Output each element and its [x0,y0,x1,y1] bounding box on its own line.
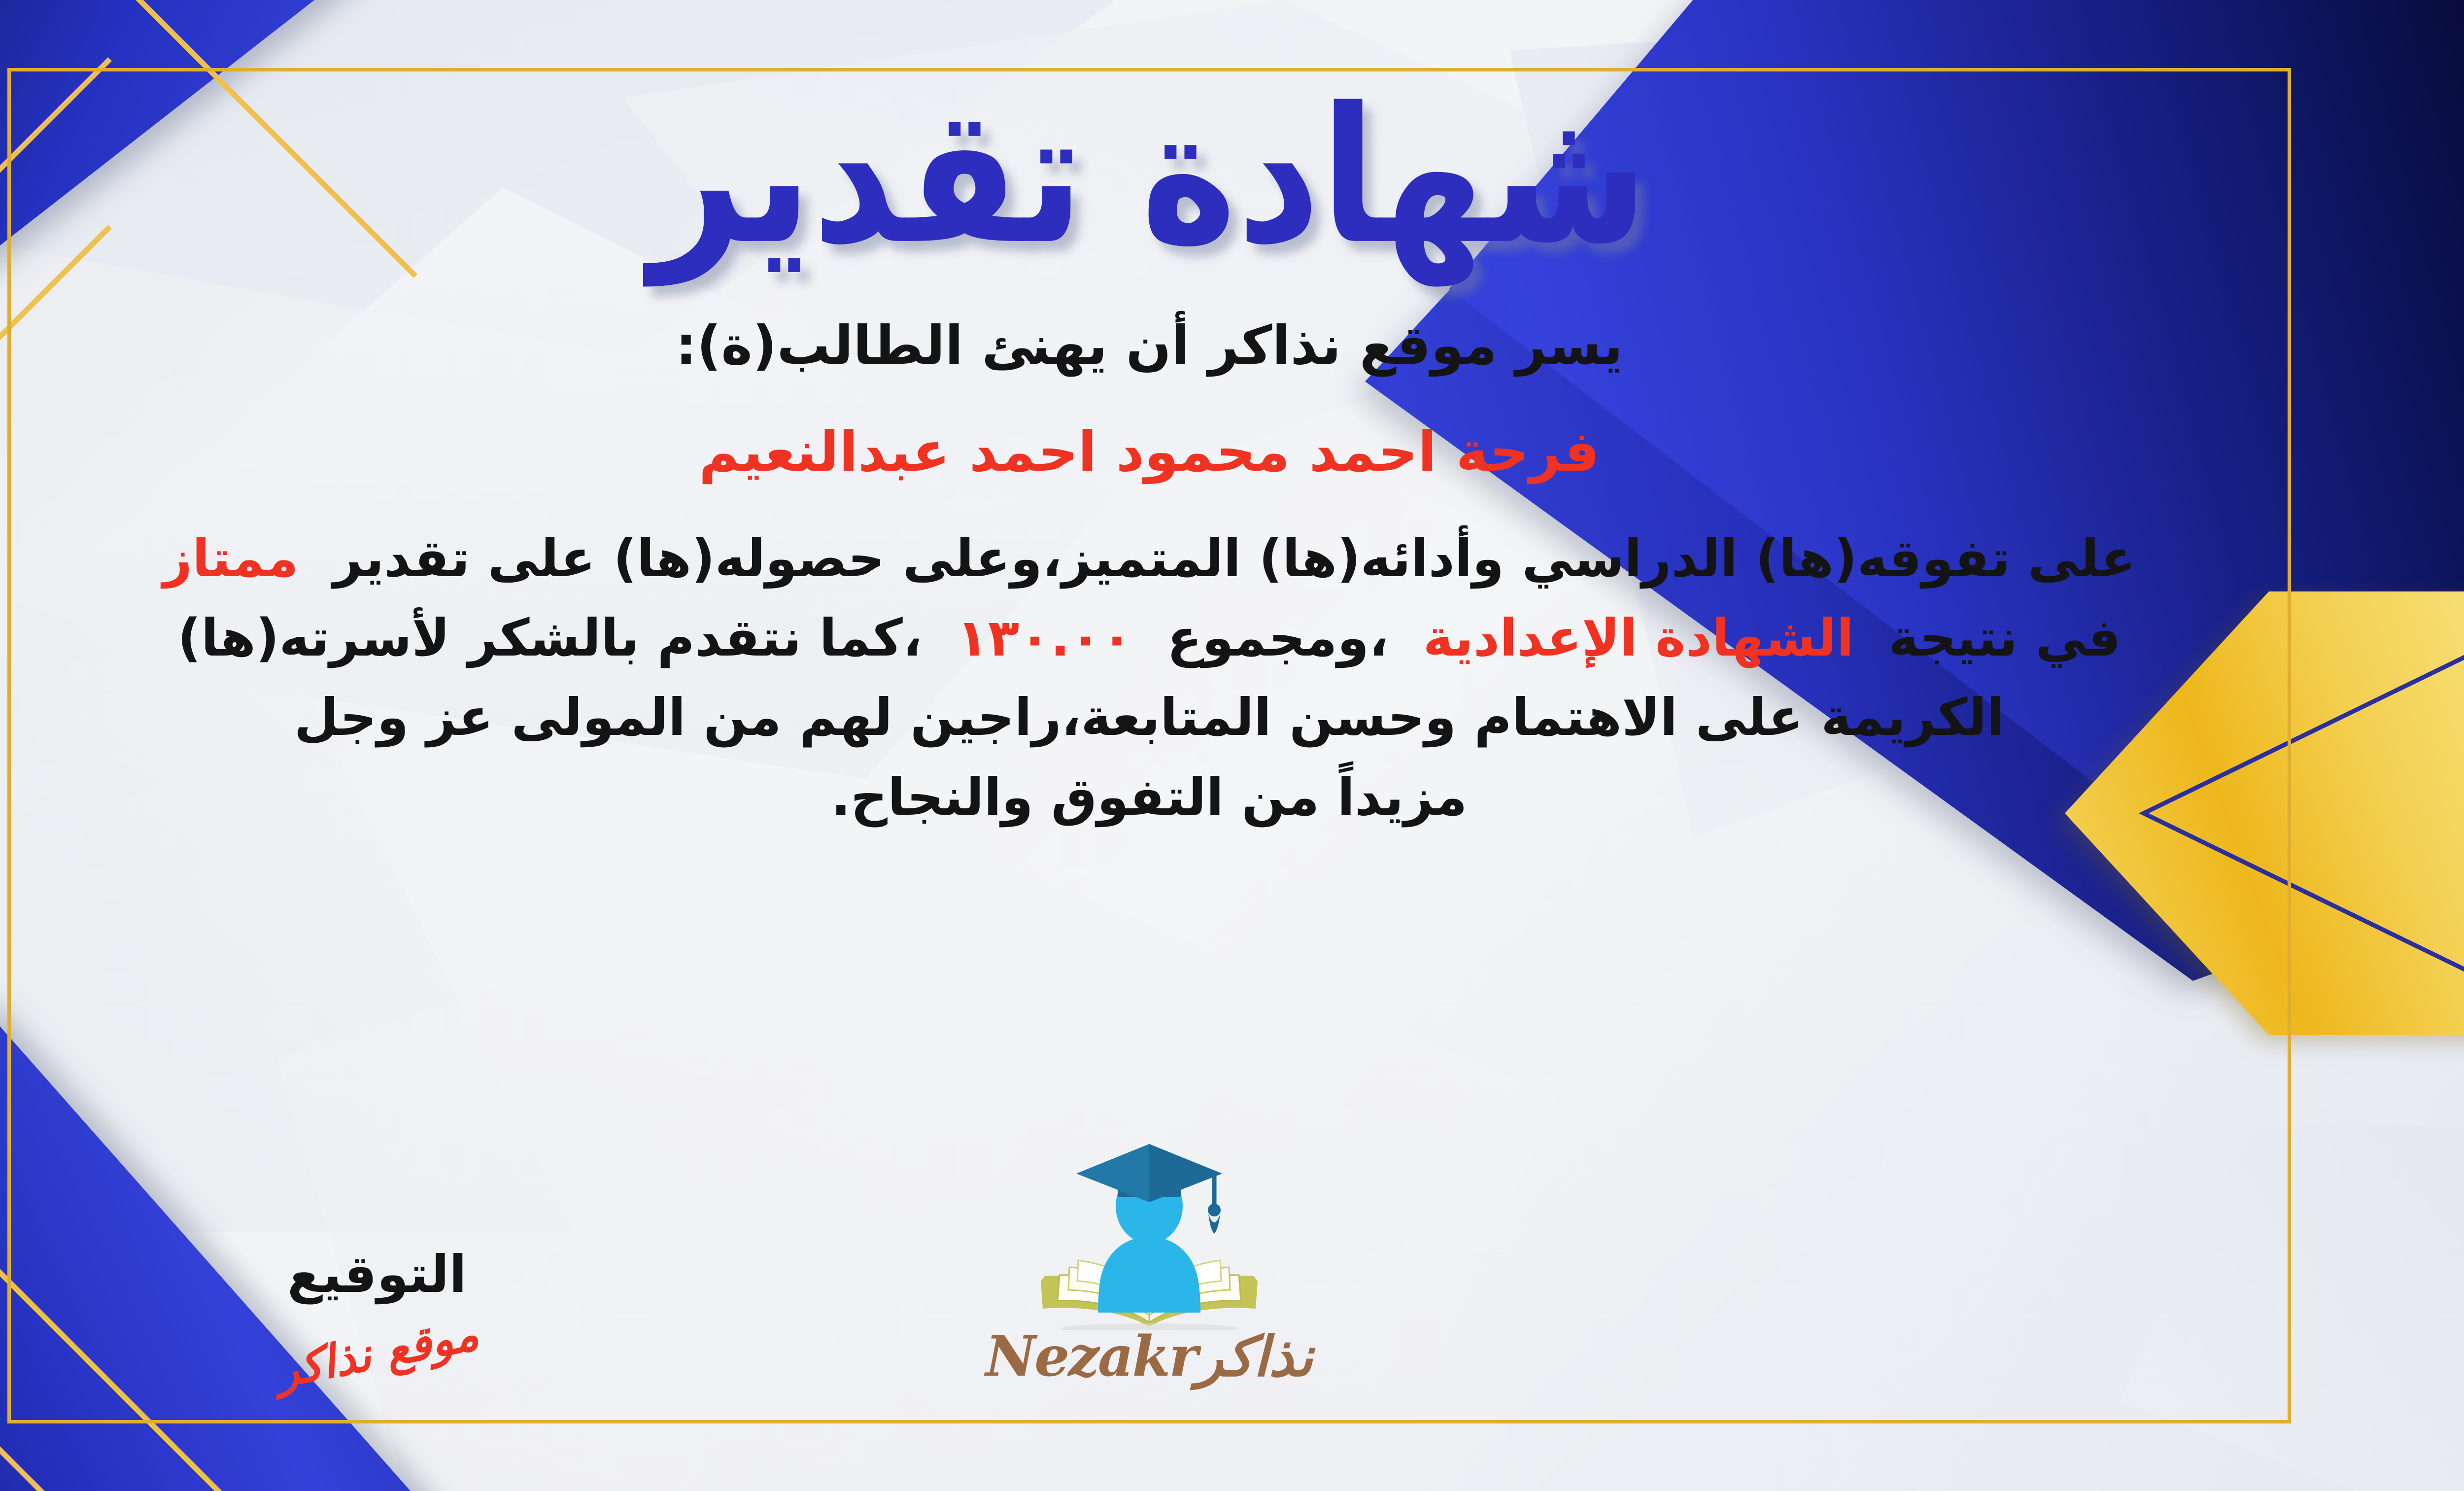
signature-label: التوقيع [155,1244,599,1304]
logo-wordmark: Nezakrنذاكر [962,1324,1336,1389]
brand-logo: Nezakrنذاكر [962,1133,1336,1389]
achievement-paragraph: على تفوقه(ها) الدراسي وأدائه(ها) المتميز… [7,519,2291,837]
grade-value: ممتاز [163,528,299,589]
exam-name: الشهادة الإعدادية [1423,608,1854,668]
total-label: ،ومجموع [1167,608,1388,668]
greeting-line: يسر موقع نذاكر أن يهنئ الطالب(ة): [7,305,2291,387]
thanks-text: ،كما نتقدم بالشكر لأسرته(ها) [177,608,922,668]
logo-latin-text: Nezakr [986,1324,1197,1389]
student-name: فرحة احمد محمود احمد عبدالنعيم [7,410,2291,495]
certificate-footer: التوقيع موقع نذاكر [7,1064,2291,1379]
result-prefix: في نتيجة [1888,608,2121,668]
family-thanks-line: الكريمة على الاهتمام وحسن المتابعة،راجين… [294,687,2004,747]
achievement-text-line1: على تفوقه(ها) الدراسي وأدائه(ها) المتميز… [333,528,2136,589]
logo-arabic-text: نذاكر [1197,1324,1313,1389]
signature-handwriting: موقع نذاكر [272,1307,483,1398]
signature-block: التوقيع موقع نذاكر [155,1244,599,1379]
logo-graphic [1021,1133,1277,1330]
total-score: ١٣٠.٠٠ [957,608,1132,668]
certificate-page: شهادة تقدير يسر موقع نذاكر أن يهنئ الطال… [0,0,2464,1491]
closing-line: مزيداً من التفوق والنجاح. [831,767,1468,827]
certificate-body: يسر موقع نذاكر أن يهنئ الطالب(ة): فرحة ا… [7,305,2291,837]
certificate-content: شهادة تقدير يسر موقع نذاكر أن يهنئ الطال… [7,68,2291,1423]
certificate-title: شهادة تقدير [650,83,1649,270]
